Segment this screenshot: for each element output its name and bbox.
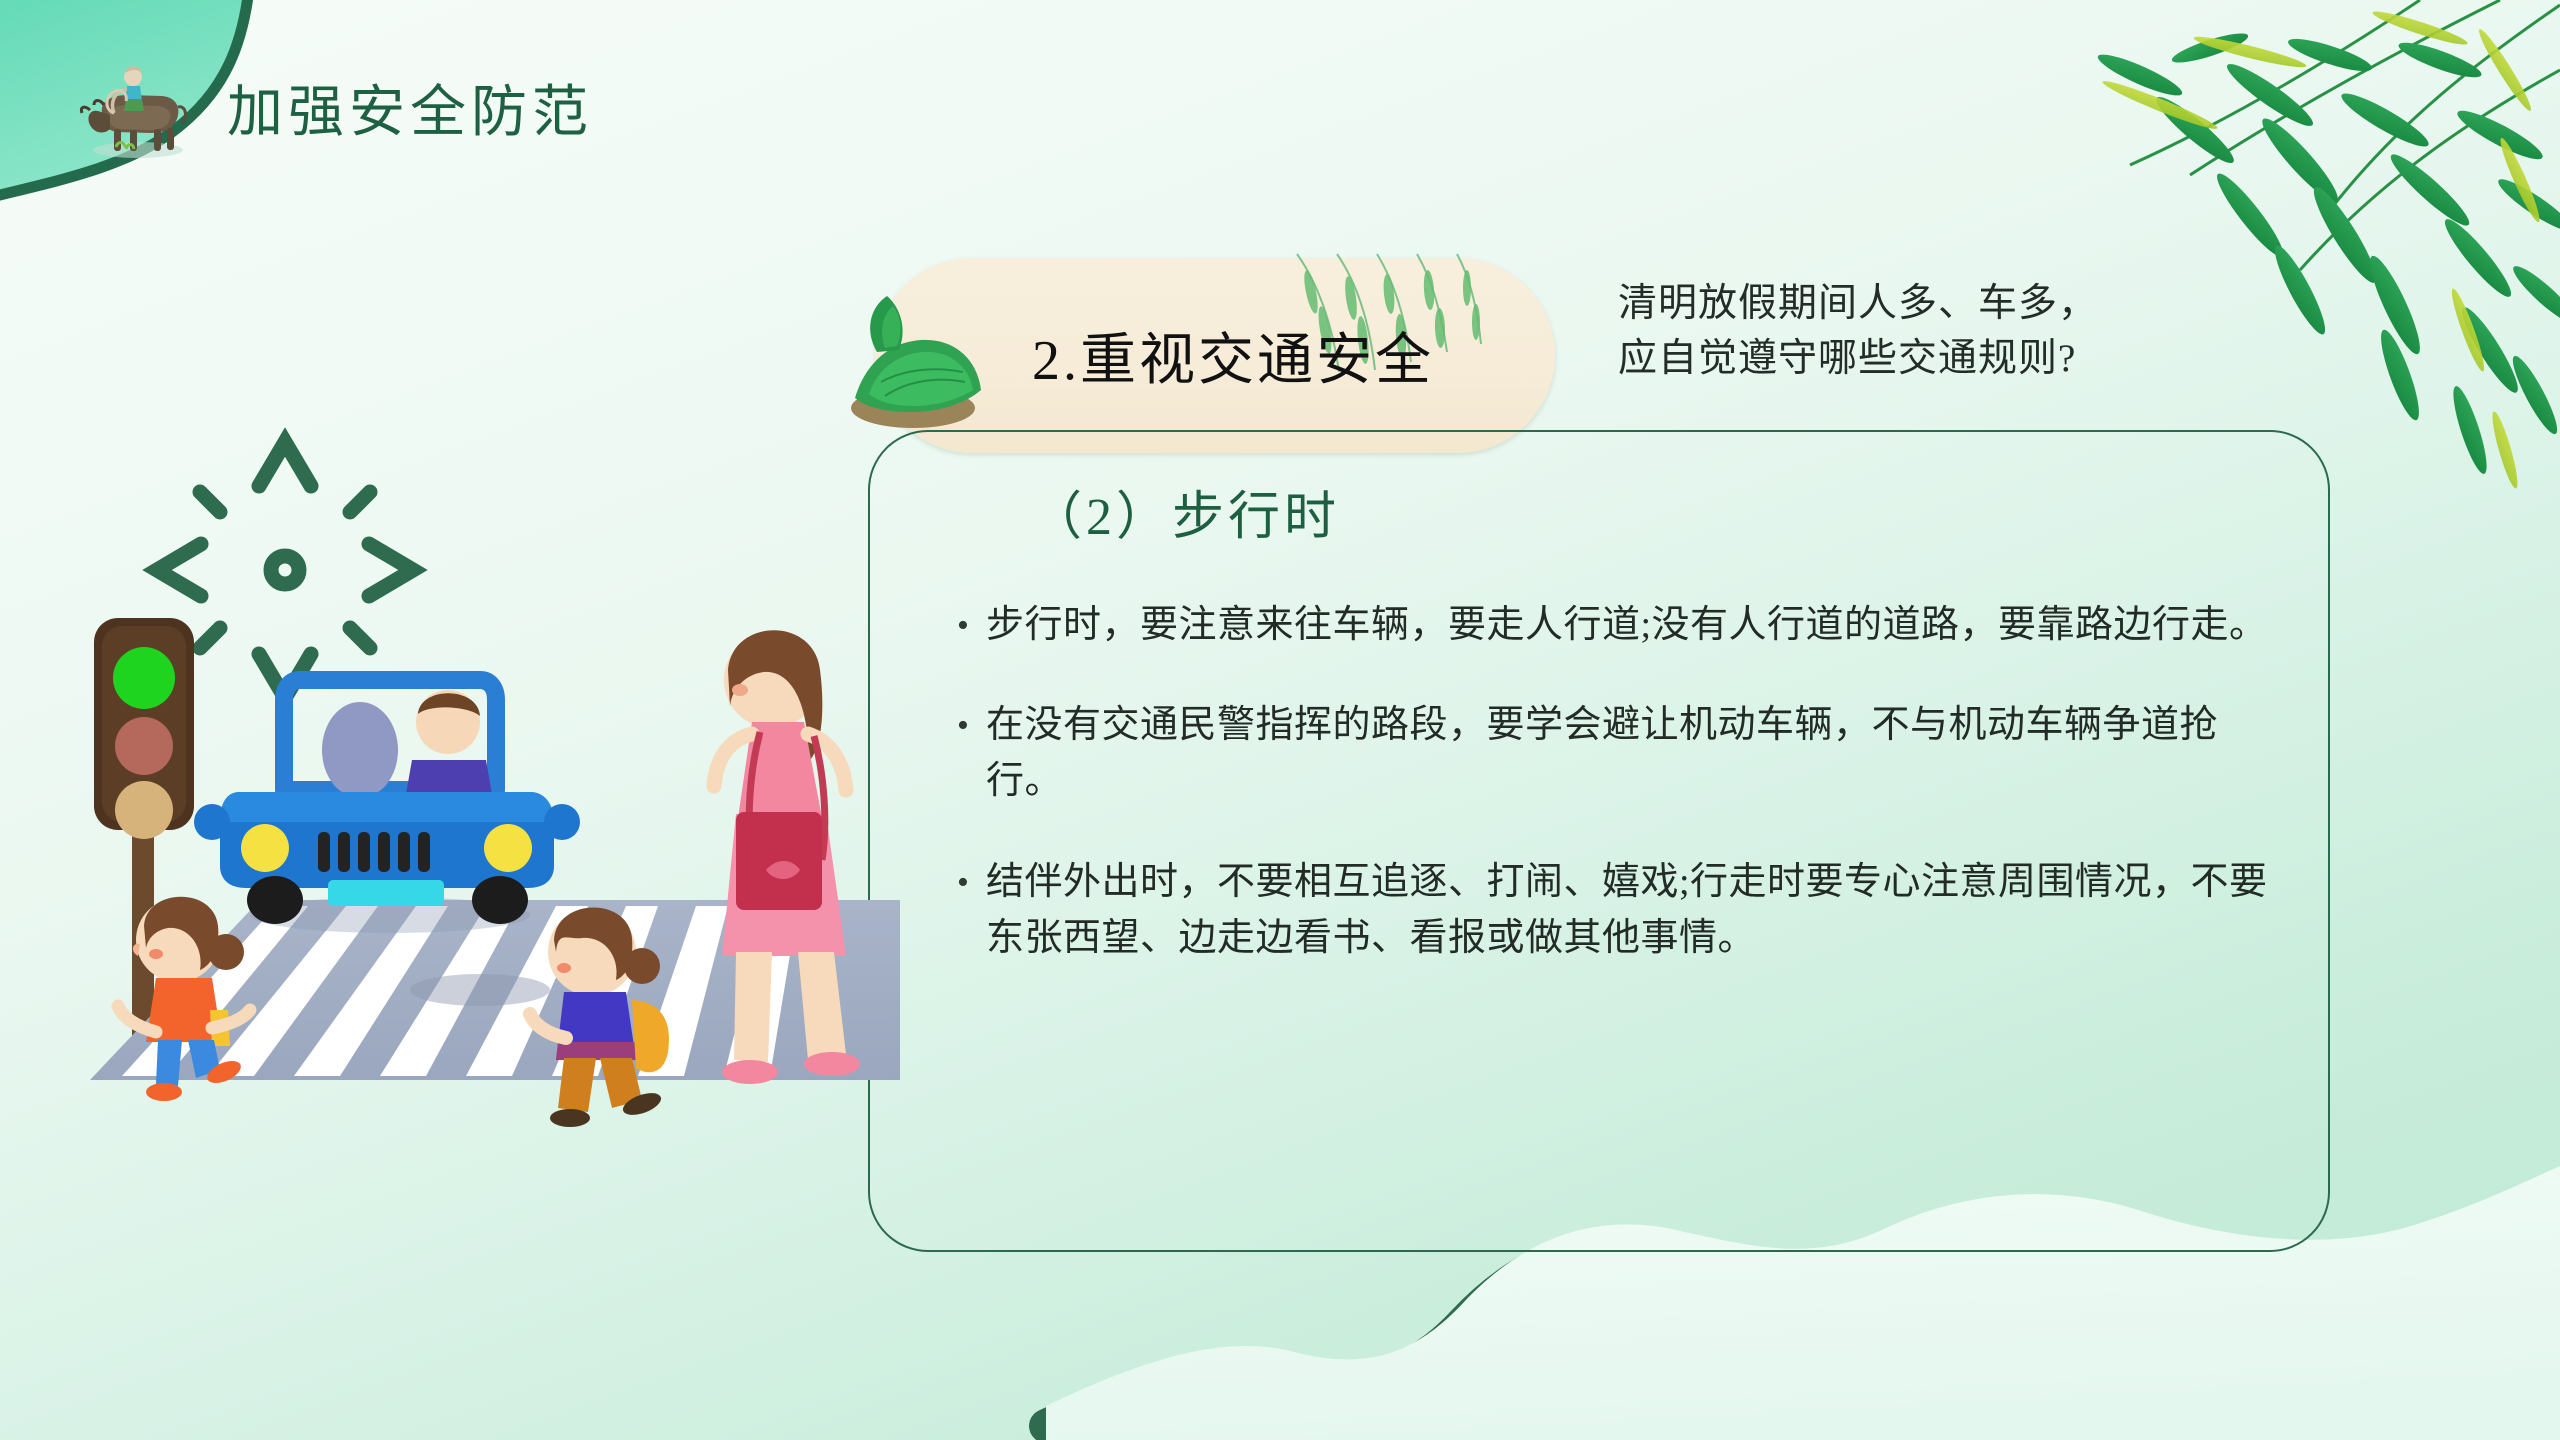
question-text: 清明放假期间人多、车多， 应自觉遵守哪些交通规则?: [1618, 276, 2218, 387]
list-item: • 结伴外出时，不要相互追逐、打闹、嬉戏;行走时要专心注意周围情况，不要东张西望…: [940, 854, 2280, 966]
ponytail: [208, 934, 244, 970]
car-license-plate: [328, 880, 444, 906]
list-item: • 在没有交通民警指挥的路段，要学会避让机动车辆，不与机动车辆争道抢行。: [940, 697, 2280, 809]
list-item: • 步行时，要注意来往车辆，要走人行道;没有人行道的道路，要靠路边行走。: [940, 597, 2280, 653]
bullet-marker-icon: •: [940, 854, 986, 908]
car-headlight: [241, 824, 289, 872]
question-line-1: 清明放假期间人多、车多，: [1618, 276, 2218, 331]
question-line-2: 应自觉遵守哪些交通规则?: [1618, 331, 2218, 386]
driver-in-car: [406, 690, 492, 794]
willow-leaves-corner-decoration: [2094, 0, 2560, 490]
slide-header: 加强安全防范: [70, 55, 593, 160]
content-card: （2）步行时 • 步行时，要注意来往车辆，要走人行道;没有人行道的道路，要靠路边…: [868, 430, 2330, 1252]
slide-canvas: 加强安全防范: [0, 0, 2560, 1440]
traffic-light-red: [115, 717, 173, 775]
traffic-light-green: [113, 647, 175, 709]
bullet-text: 在没有交通民警指挥的路段，要学会避让机动车辆，不与机动车辆争道抢行。: [986, 697, 2280, 809]
section-banner: 2.重视交通安全: [875, 258, 1555, 453]
bullet-list: • 步行时，要注意来往车辆，要走人行道;没有人行道的道路，要靠路边行走。 • 在…: [940, 597, 2280, 1010]
sun-sparkle-icon: [157, 442, 413, 698]
bullet-marker-icon: •: [940, 697, 986, 751]
bullet-text: 步行时，要注意来往车辆，要走人行道;没有人行道的道路，要靠路边行走。: [986, 597, 2280, 653]
ox-and-herdboy-icon: [70, 55, 205, 160]
bullet-marker-icon: •: [940, 597, 986, 651]
section-heading: （2）步行时: [1030, 474, 1340, 549]
crosswalk-traffic-scene: [60, 370, 900, 1170]
blue-car-icon: [194, 680, 580, 933]
handbag: [736, 812, 822, 910]
banner-title: 2.重视交通安全: [1032, 315, 1434, 396]
car-headlight: [484, 824, 532, 872]
page-title: 加强安全防范: [227, 67, 593, 148]
traffic-light-amber: [115, 781, 173, 839]
bullet-text: 结伴外出时，不要相互追逐、打闹、嬉戏;行走时要专心注意周围情况，不要东张西望、边…: [986, 854, 2280, 966]
